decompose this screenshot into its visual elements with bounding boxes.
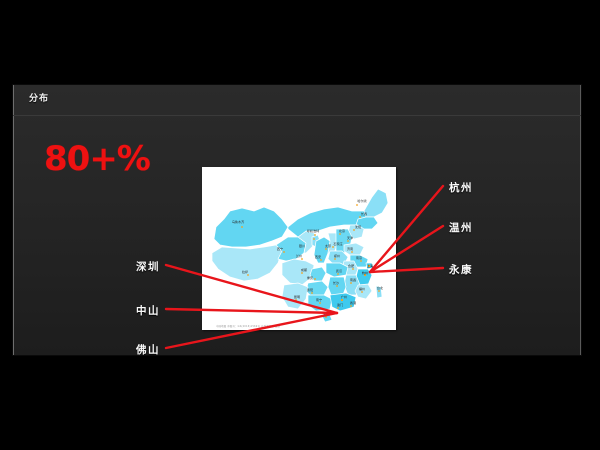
map-city-label: 西宁 bbox=[277, 246, 283, 251]
map-city-label: 南昌 bbox=[350, 277, 356, 282]
callout-label-zhongshan[interactable]: 中山 bbox=[136, 303, 160, 318]
panel-right-edge bbox=[580, 85, 581, 355]
stat-value-80-percent: 80+% bbox=[44, 142, 150, 176]
map-city-label: 昆明 bbox=[294, 294, 300, 299]
map-city-label: 香港 bbox=[350, 300, 357, 305]
callout-label-shenzhen[interactable]: 深圳 bbox=[136, 259, 160, 274]
map-city-label: 海口 bbox=[323, 311, 329, 316]
map-city-label: 合肥 bbox=[348, 263, 354, 268]
slide-panel: 分布 80+% bbox=[13, 85, 581, 355]
map-city-label: 台北 bbox=[377, 285, 384, 290]
map-city-label: 上海 bbox=[367, 263, 373, 268]
map-city-label: 郑州 bbox=[334, 253, 340, 258]
panel-left-edge bbox=[13, 85, 14, 355]
map-city-label: 福州 bbox=[359, 286, 365, 291]
map-city-label: 成都 bbox=[301, 267, 307, 272]
map-city-label: 重庆 bbox=[307, 275, 313, 280]
map-city-label: 天津 bbox=[347, 235, 353, 240]
map-city-label: 南宁 bbox=[316, 297, 322, 302]
map-city-label: 澳门 bbox=[337, 302, 343, 307]
map-city-label: 石家庄 bbox=[333, 241, 342, 246]
map-city-label: 广州 bbox=[341, 294, 347, 299]
china-map-graphic: 乌鲁木齐哈尔滨长春沈阳呼和浩特北京天津银川石家庄太原济南西宁兰州西安郑州南京合肥… bbox=[202, 167, 396, 330]
slide-header: 分布 bbox=[13, 85, 581, 115]
slide-canvas: 分布 80+% bbox=[0, 0, 600, 450]
map-city-label: 南京 bbox=[356, 255, 362, 260]
header-divider bbox=[13, 115, 581, 116]
map-city-label: 长春 bbox=[361, 211, 367, 216]
map-city-label: 沈阳 bbox=[355, 224, 361, 229]
map-city-label: 杭州 bbox=[362, 270, 368, 275]
map-city-label: 贵阳 bbox=[307, 287, 313, 292]
map-city-label: 拉萨 bbox=[242, 269, 248, 274]
map-city-label: 乌鲁木齐 bbox=[232, 219, 244, 224]
map-city-label: 北京 bbox=[339, 228, 345, 233]
map-city-label: 太原 bbox=[325, 243, 331, 248]
map-city-label: 长沙 bbox=[333, 280, 339, 285]
callout-label-hangzhou[interactable]: 杭州 bbox=[449, 180, 473, 195]
map-city-label: 银川 bbox=[299, 243, 305, 248]
map-city-label: 哈尔滨 bbox=[357, 198, 366, 203]
callout-label-foshan[interactable]: 佛山 bbox=[136, 342, 160, 355]
china-map-card: 乌鲁木齐哈尔滨长春沈阳呼和浩特北京天津银川石家庄太原济南西宁兰州西安郑州南京合肥… bbox=[202, 167, 396, 330]
map-city-label: 武汉 bbox=[336, 268, 342, 273]
map-city-label: 西安 bbox=[315, 254, 321, 259]
callout-label-yongkang[interactable]: 永康 bbox=[449, 262, 473, 277]
page-title: 分布 bbox=[29, 91, 49, 104]
map-footnote: 中国地图 审图号：GS(2016)1569号 自然资源部 监制 bbox=[216, 324, 280, 328]
map-city-label: 呼和浩特 bbox=[307, 228, 319, 233]
callout-label-wenzhou[interactable]: 温州 bbox=[449, 220, 473, 235]
map-city-label: 济南 bbox=[347, 246, 353, 251]
map-city-label: 兰州 bbox=[296, 253, 302, 258]
